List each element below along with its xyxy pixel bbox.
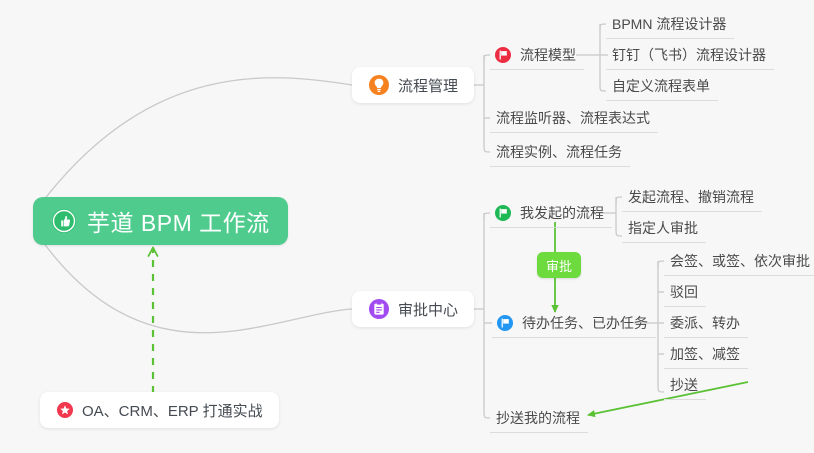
node-dingtalk-feishu-designer[interactable]: 钉钉（飞书）流程设计器 xyxy=(606,41,774,70)
flag-icon xyxy=(494,46,512,64)
node-countersign-orsign-sequential-label: 会签、或签、依次审批 xyxy=(670,251,810,271)
node-countersign-orsign-sequential[interactable]: 会签、或签、依次审批 xyxy=(664,247,814,276)
clipboard-icon xyxy=(368,298,390,320)
node-oa-crm-erp-label: OA、CRM、ERP 打通实战 xyxy=(82,400,263,421)
node-designated-approver-label: 指定人审批 xyxy=(628,218,698,238)
node-process-instance-task-label: 流程实例、流程任务 xyxy=(496,142,622,162)
node-cc-to-me-process-label: 抄送我的流程 xyxy=(496,408,580,428)
node-dingtalk-feishu-designer-label: 钉钉（飞书）流程设计器 xyxy=(612,45,766,65)
link-root-to-approval-center xyxy=(40,238,352,333)
node-approval-center-label: 审批中心 xyxy=(398,299,458,320)
node-approval-center[interactable]: 审批中心 xyxy=(352,291,474,327)
node-process-listener-expression-label: 流程监听器、流程表达式 xyxy=(496,108,650,128)
mindmap-canvas: 芋道 BPM 工作流 流程管理 流程模型 BPMN 流程设计器 钉钉（飞书）流程 xyxy=(0,0,814,453)
approval-badge-label: 审批 xyxy=(546,256,572,275)
star-icon xyxy=(56,401,74,419)
node-process-instance-task[interactable]: 流程实例、流程任务 xyxy=(490,138,630,167)
node-my-initiated-process-label: 我发起的流程 xyxy=(520,203,604,223)
node-process-management[interactable]: 流程管理 xyxy=(352,67,474,103)
node-start-cancel-process[interactable]: 发起流程、撤销流程 xyxy=(622,183,762,212)
node-bpmn-designer-label: BPMN 流程设计器 xyxy=(612,14,726,34)
thumbs-up-icon xyxy=(51,208,77,234)
node-oa-crm-erp[interactable]: OA、CRM、ERP 打通实战 xyxy=(40,392,279,428)
node-reject[interactable]: 驳回 xyxy=(664,278,706,307)
flag-icon xyxy=(496,314,514,332)
node-reject-label: 驳回 xyxy=(670,282,698,302)
node-add-remove-sign[interactable]: 加签、减签 xyxy=(664,340,748,369)
node-todo-done-tasks[interactable]: 待办任务、已办任务 xyxy=(492,309,656,338)
node-cc-to-me-process[interactable]: 抄送我的流程 xyxy=(490,404,588,433)
node-process-model[interactable]: 流程模型 xyxy=(490,41,584,70)
node-process-listener-expression[interactable]: 流程监听器、流程表达式 xyxy=(490,104,658,133)
node-my-initiated-process[interactable]: 我发起的流程 xyxy=(490,199,612,228)
node-add-remove-sign-label: 加签、减签 xyxy=(670,344,740,364)
node-start-cancel-process-label: 发起流程、撤销流程 xyxy=(628,187,754,207)
link-root-to-process-management xyxy=(40,78,352,205)
node-cc-label: 抄送 xyxy=(670,375,698,395)
root-node[interactable]: 芋道 BPM 工作流 xyxy=(33,197,288,245)
node-delegate-transfer[interactable]: 委派、转办 xyxy=(664,309,748,338)
lightbulb-icon xyxy=(368,74,390,96)
flag-icon xyxy=(494,204,512,222)
node-delegate-transfer-label: 委派、转办 xyxy=(670,313,740,333)
node-process-model-label: 流程模型 xyxy=(520,45,576,65)
node-cc[interactable]: 抄送 xyxy=(664,371,706,400)
node-designated-approver[interactable]: 指定人审批 xyxy=(622,214,706,243)
node-todo-done-tasks-label: 待办任务、已办任务 xyxy=(522,313,648,333)
approval-badge[interactable]: 审批 xyxy=(537,252,581,278)
node-custom-process-form-label: 自定义流程表单 xyxy=(612,76,710,96)
node-process-management-label: 流程管理 xyxy=(398,75,458,96)
node-bpmn-designer[interactable]: BPMN 流程设计器 xyxy=(606,10,734,39)
root-node-label: 芋道 BPM 工作流 xyxy=(87,204,270,238)
node-custom-process-form[interactable]: 自定义流程表单 xyxy=(606,72,718,101)
